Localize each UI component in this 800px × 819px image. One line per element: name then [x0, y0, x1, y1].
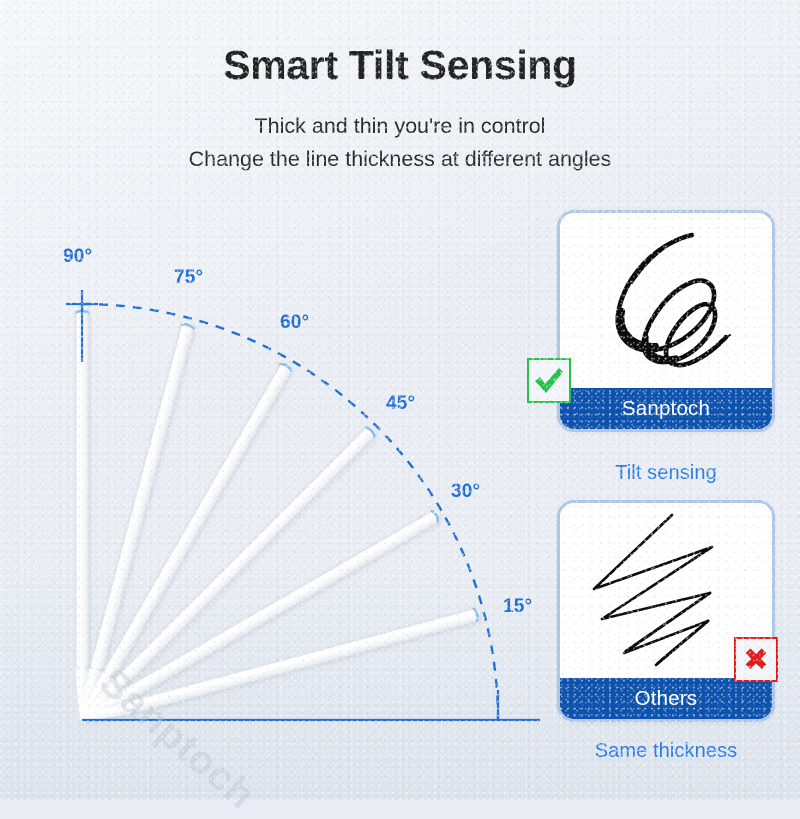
angle-label-15: 15° [503, 596, 532, 618]
subtitle-line-1: Thick and thin you're in control [0, 111, 800, 142]
x-mark-icon: ✖ [734, 637, 778, 682]
page-title: Smart Tilt Sensing [0, 44, 800, 87]
angle-label-30: 30° [451, 481, 480, 503]
card-others-label: Others [560, 678, 772, 719]
caption-tilt-sensing: Tilt sensing [557, 462, 775, 485]
subtitle-line-2: Change the line thickness at different a… [0, 144, 800, 175]
angle-label-45: 45° [386, 393, 415, 415]
tilt-angle-fan-diagram: Sanptoch [0, 190, 540, 760]
angle-label-60: 60° [280, 312, 309, 334]
fan-diagram-svg [0, 190, 540, 760]
card-others[interactable]: Others [557, 500, 775, 722]
stylus-pens-group [75, 308, 482, 727]
x-mark-glyph: ✖ [743, 644, 769, 675]
check-mark-icon [527, 358, 571, 403]
angle-label-75: 75° [174, 267, 203, 289]
angle-label-90: 90° [63, 246, 92, 268]
pen-90deg [75, 308, 89, 720]
card-sanptoch[interactable]: Sanptoch [557, 210, 775, 432]
header: Smart Tilt Sensing Thick and thin you're… [0, 0, 800, 174]
sanptoch-stroke-art [560, 213, 772, 388]
card-sanptoch-label: Sanptoch [560, 388, 772, 429]
caption-same-thickness: Same thickness [557, 740, 775, 763]
